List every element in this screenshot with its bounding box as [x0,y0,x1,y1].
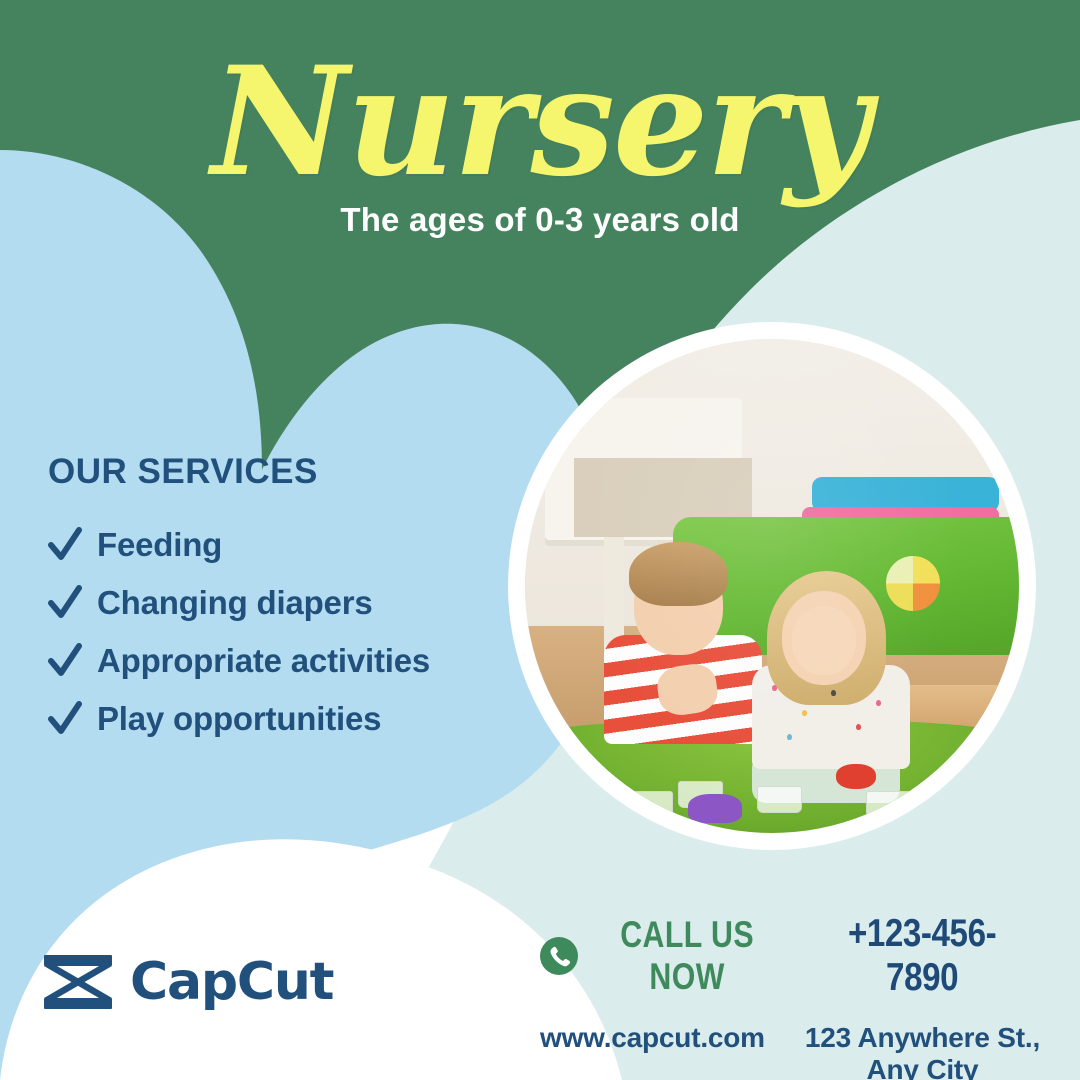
street-address: 123 Anywhere St., Any City [793,1022,1052,1080]
children-playing-photo [525,339,1019,833]
service-item: Appropriate activities [48,642,518,680]
capcut-logo[interactable]: CapCut [44,952,333,1012]
call-us-label: CALL US NOW [592,914,782,998]
check-icon [48,701,82,737]
photo-circle-frame [508,322,1036,850]
phone-number[interactable]: +123-456-7890 [826,912,1018,1000]
services-section: OUR SERVICES Feeding Changing diapers Ap… [48,452,518,758]
services-heading: OUR SERVICES [48,452,518,492]
check-icon [48,527,82,563]
check-icon [48,585,82,621]
service-label: Changing diapers [97,584,373,622]
service-item: Feeding [48,526,518,564]
capcut-logo-icon [44,955,112,1009]
service-item: Play opportunities [48,700,518,738]
call-row: CALL US NOW +123-456-7890 [540,912,1052,1000]
address-row: www.capcut.com 123 Anywhere St., Any Cit… [540,1022,1052,1080]
website-link[interactable]: www.capcut.com [540,1022,765,1054]
service-label: Appropriate activities [97,642,430,680]
service-label: Play opportunities [97,700,381,738]
phone-icon[interactable] [540,937,578,975]
service-label: Feeding [97,526,222,564]
capcut-logo-text: CapCut [130,952,333,1012]
service-item: Changing diapers [48,584,518,622]
contact-block: CALL US NOW +123-456-7890 www.capcut.com… [540,912,1052,1080]
check-icon [48,643,82,679]
poster-canvas: Nursery The ages of 0-3 years old [0,0,1080,1080]
